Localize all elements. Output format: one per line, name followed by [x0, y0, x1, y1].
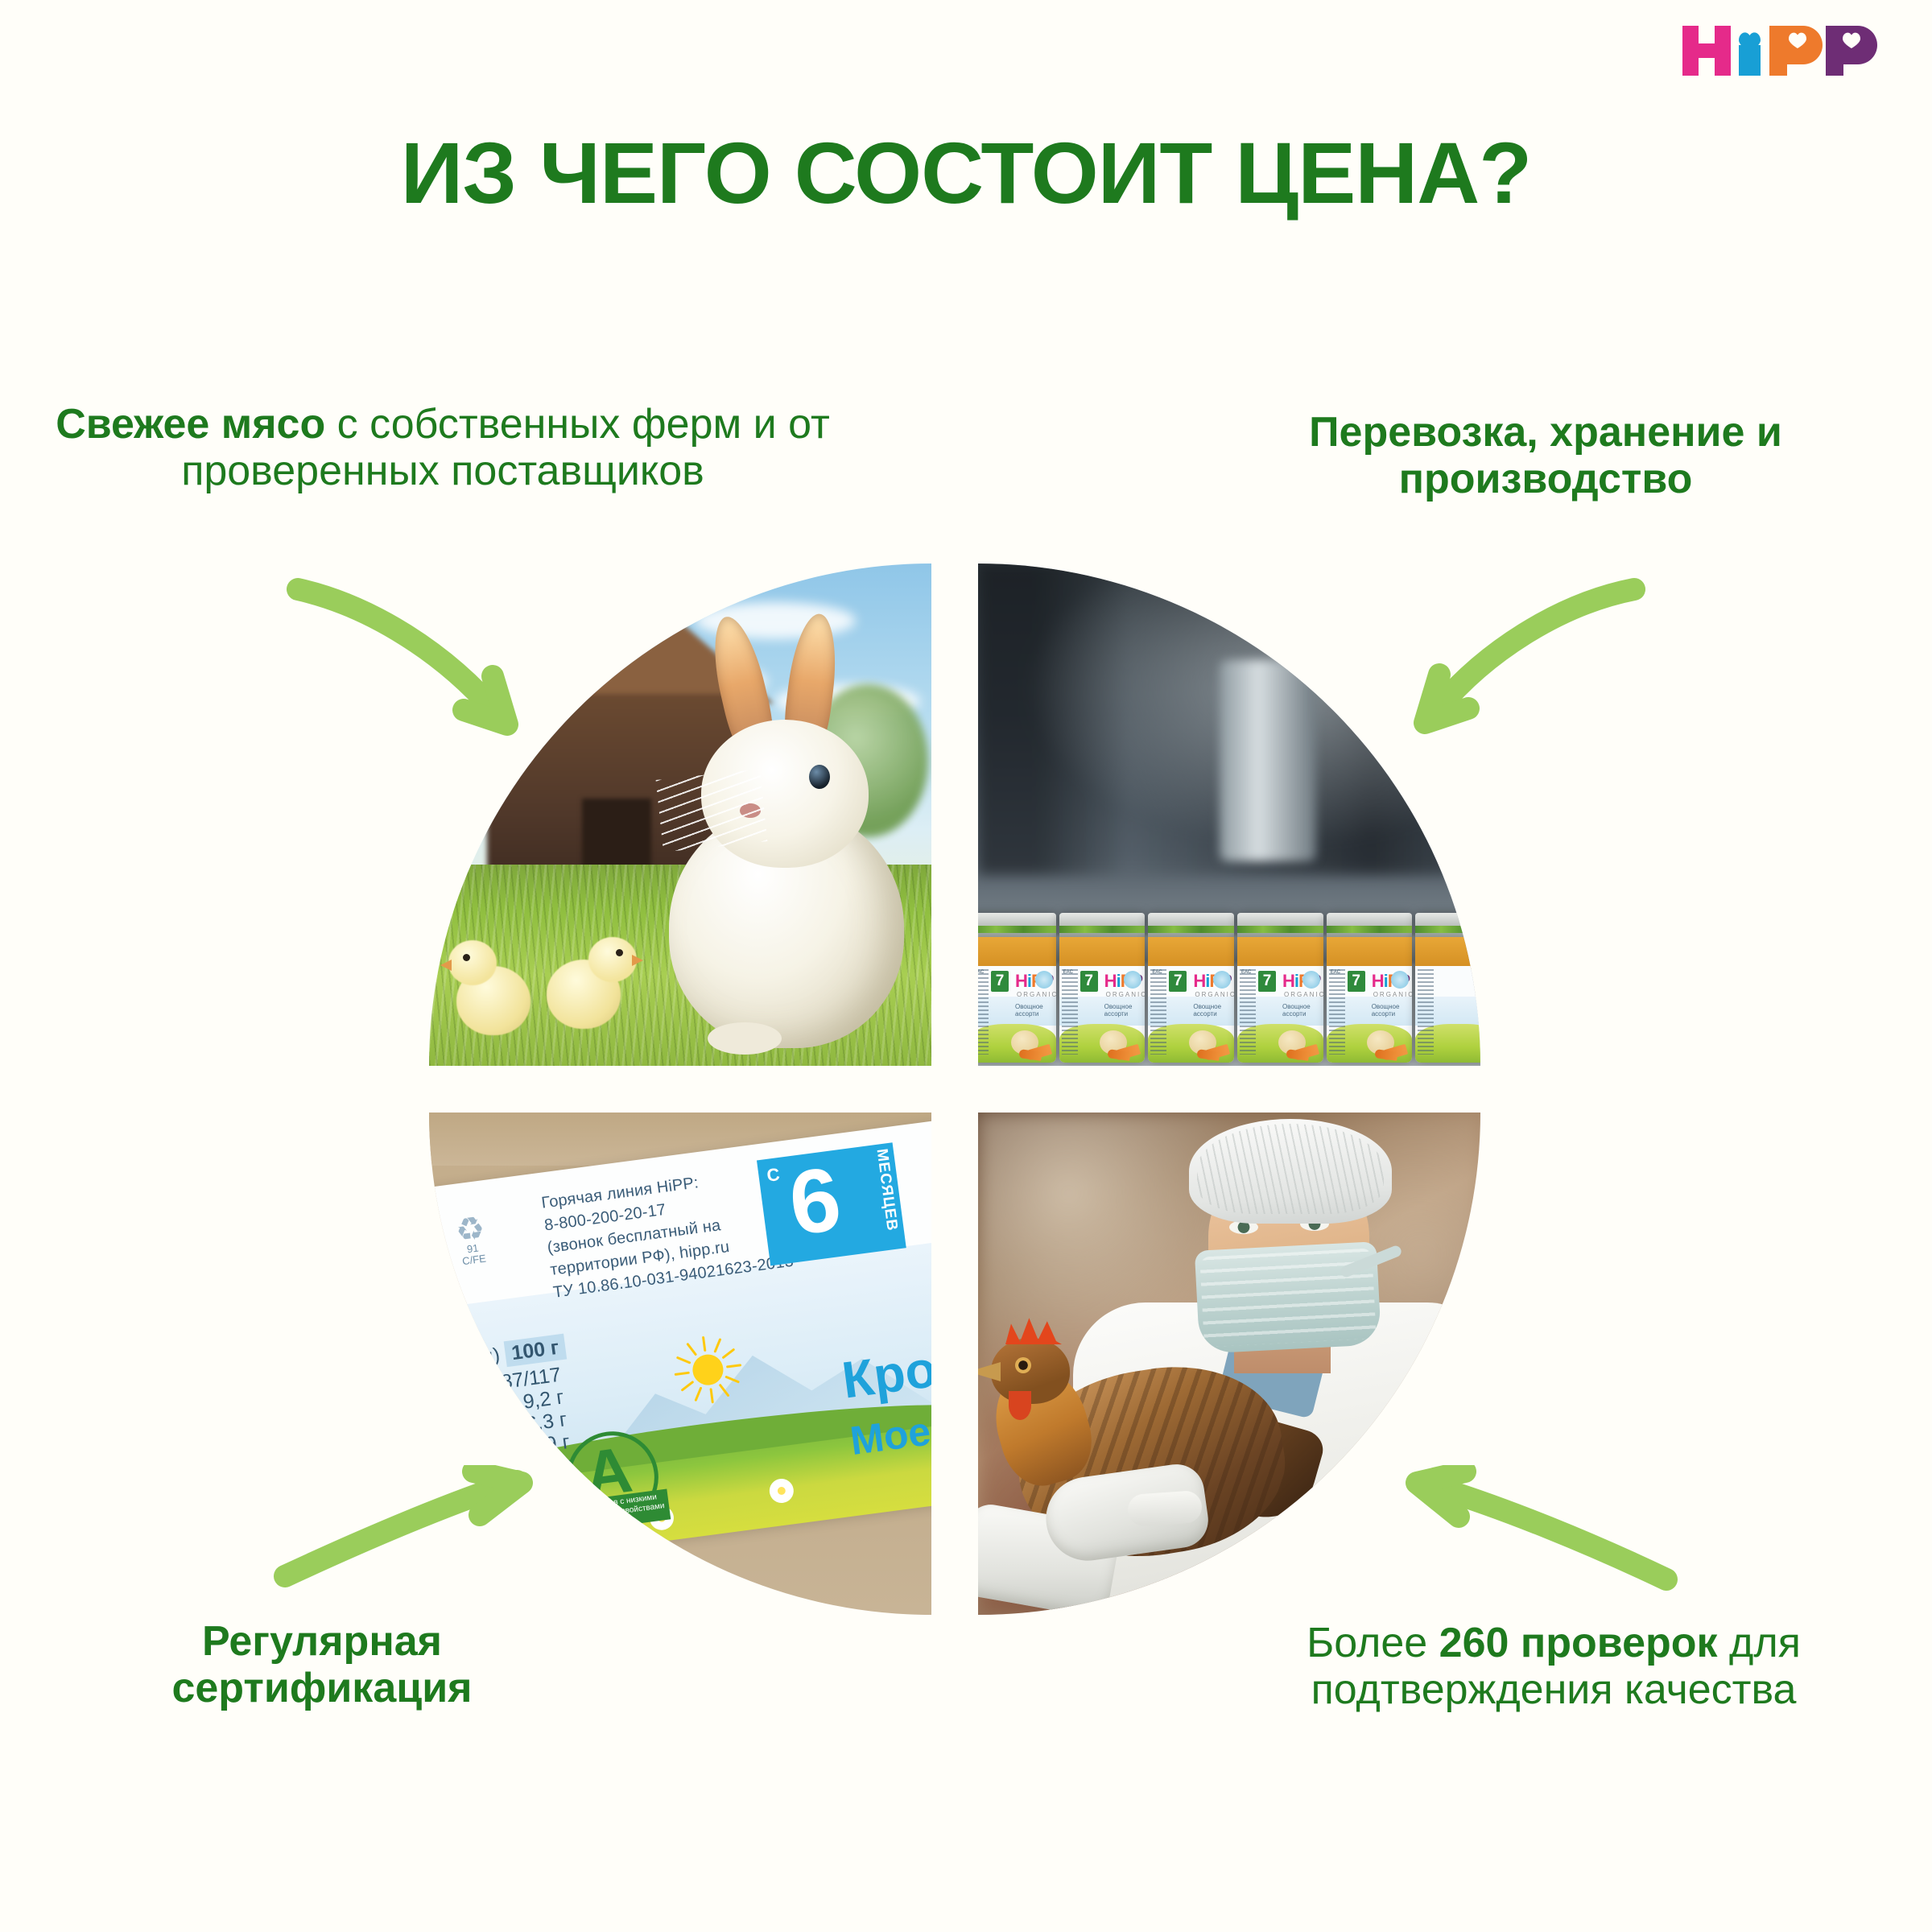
age-badge-6-months: С 6 МЕСЯЦЕВ [757, 1142, 906, 1265]
age-badge: 7 [991, 971, 1009, 992]
age-badge: 7 [1169, 971, 1187, 992]
arrow-to-top-right-quadrant [1385, 563, 1690, 765]
eac-mark: EAC [1063, 970, 1073, 975]
baby-food-jar: EAC 7 HiPP ORGANIC Овощное ассорти [978, 913, 1056, 1063]
arrow-to-top-left-quadrant [266, 563, 547, 765]
baby-food-jar: EAC 7 HiPP ORGANIC Овощное ассорти [1059, 913, 1146, 1063]
age-badge: 7 [1258, 971, 1276, 992]
logo-letter-p1 [1769, 26, 1823, 76]
hair-net-cap [1189, 1119, 1392, 1224]
rabbit [651, 702, 917, 1048]
age-prefix: С [766, 1164, 781, 1187]
page-title: ИЗ ЧЕГО СОСТОИТ ЦЕНА? [0, 127, 1932, 218]
baby-food-jar: EAC 7 HiPP ORGANIC Овощное ассорти [1237, 913, 1323, 1063]
logo-letter-h [1682, 26, 1731, 76]
age-badge: 7 [1348, 971, 1365, 992]
jar-organic-label: ORGANIC [1106, 991, 1146, 998]
jar-organic-label: ORGANIC [1373, 991, 1413, 998]
sun-icon [668, 1331, 745, 1408]
jar-product-name: Овощное ассорти [1193, 1003, 1234, 1018]
eac-mark: EAC [1241, 970, 1251, 975]
chicken [978, 1314, 1316, 1604]
age-unit: МЕСЯЦЕВ [873, 1148, 901, 1232]
callout-top-left: Свежее мясо с собственных ферм и от пров… [16, 401, 869, 494]
eac-mark: EAC [978, 970, 984, 975]
wattle [1009, 1391, 1031, 1420]
arrow-to-bottom-left-quadrant [266, 1465, 572, 1666]
label-product-name: Кро [839, 1339, 931, 1410]
jar-product-name: Овощное ассорти [1104, 1003, 1146, 1018]
age-badge: 7 [1080, 971, 1098, 992]
infographic-canvas: ИЗ ЧЕГО СОСТОИТ ЦЕНА? Свежее мясо с собс… [0, 0, 1932, 1932]
jar-product-name: Овощное ассорти [1372, 1003, 1413, 1018]
jar-product-name: Овощное ассорти [1015, 1003, 1056, 1018]
comb-icon [1005, 1312, 1062, 1344]
arrow-to-bottom-right-quadrant [1368, 1465, 1690, 1666]
jar-organic-label: ORGANIC [1017, 991, 1056, 998]
jar-row: EAC 7 HiPP ORGANIC Овощное ассорти [978, 913, 1480, 1066]
jar-organic-label: ORGANIC [1195, 991, 1234, 998]
hipp-logo [1682, 14, 1884, 87]
beak [978, 1362, 1001, 1381]
callout-top-right: Перевозка, хранение и производство [1183, 409, 1908, 502]
nutrition-row-prefix: я) [481, 1344, 501, 1368]
baby-food-jar [1415, 913, 1480, 1063]
jar-product-name: Овощное ассорти [1282, 1003, 1323, 1018]
baby-food-jar: EAC 7 HiPP ORGANIC Овощное ассорти [1148, 913, 1234, 1063]
logo-letter-i [1739, 32, 1761, 76]
baby-food-jar: EAC 7 HiPP ORGANIC Овощное ассорти [1327, 913, 1413, 1063]
recycle-code-letters: C/FE [461, 1253, 486, 1268]
gloved-fingers [1127, 1490, 1203, 1527]
age-number: 6 [784, 1154, 845, 1249]
logo-letter-p2 [1826, 26, 1877, 76]
eac-mark: EAC [1331, 970, 1340, 975]
eac-mark: EAC [1152, 970, 1162, 975]
callout-top-left-bold: Свежее мясо [56, 401, 325, 448]
hen-eye [1015, 1357, 1031, 1373]
jar-organic-label: ORGANIC [1284, 991, 1323, 998]
factory-cylinder [1220, 660, 1316, 861]
quadrant-wheel: EAC 7 HiPP ORGANIC Овощное ассорти [429, 563, 1480, 1615]
recycle-mark-metal: ♻ 91 C/FE [454, 1214, 489, 1268]
